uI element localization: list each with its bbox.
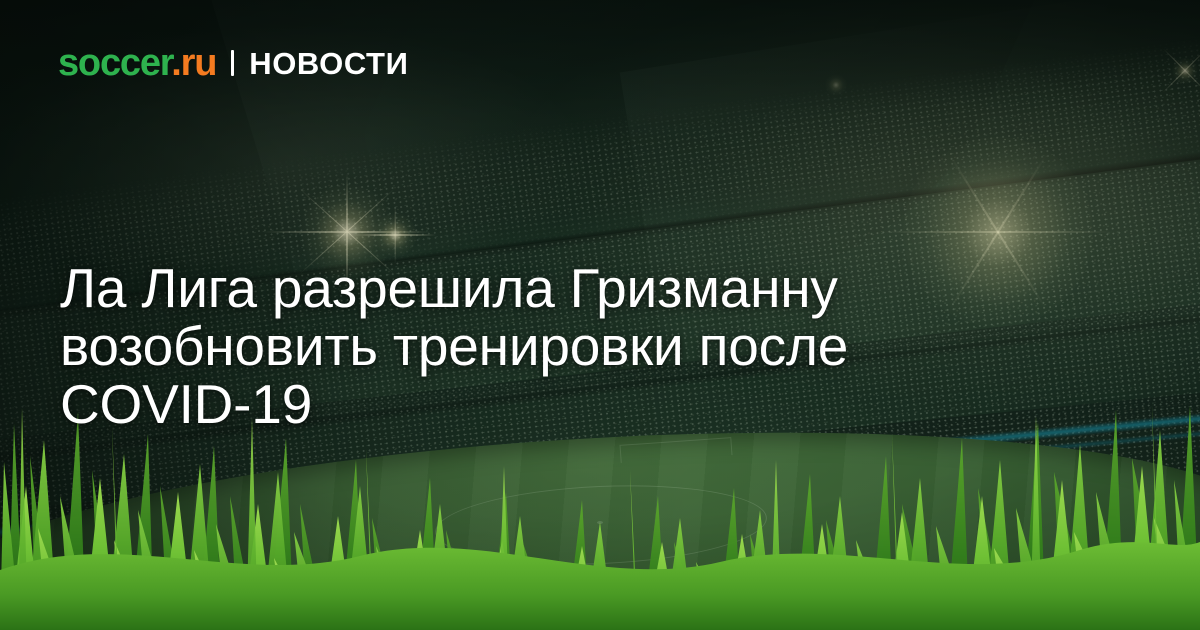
headline-line-1: Ла Лига разрешила Гризманну [60,259,960,317]
social-share-card: soccer.ru НОВОСТИ Ла Лига разрешила Гриз… [0,0,1200,630]
section-label-news: НОВОСТИ [249,48,408,79]
soccer-ru-logo[interactable]: soccer.ru [58,44,216,82]
logo-name-part: soccer [58,42,171,84]
headline-line-3: COVID-19 [60,375,960,433]
site-header: soccer.ru НОВОСТИ [58,44,408,82]
headline-line-2: возобновить тренировки после [60,317,960,375]
headline: Ла Лига разрешила Гризманну возобновить … [60,259,960,433]
logo-domain-part: .ru [171,42,216,84]
header-divider [231,50,234,76]
